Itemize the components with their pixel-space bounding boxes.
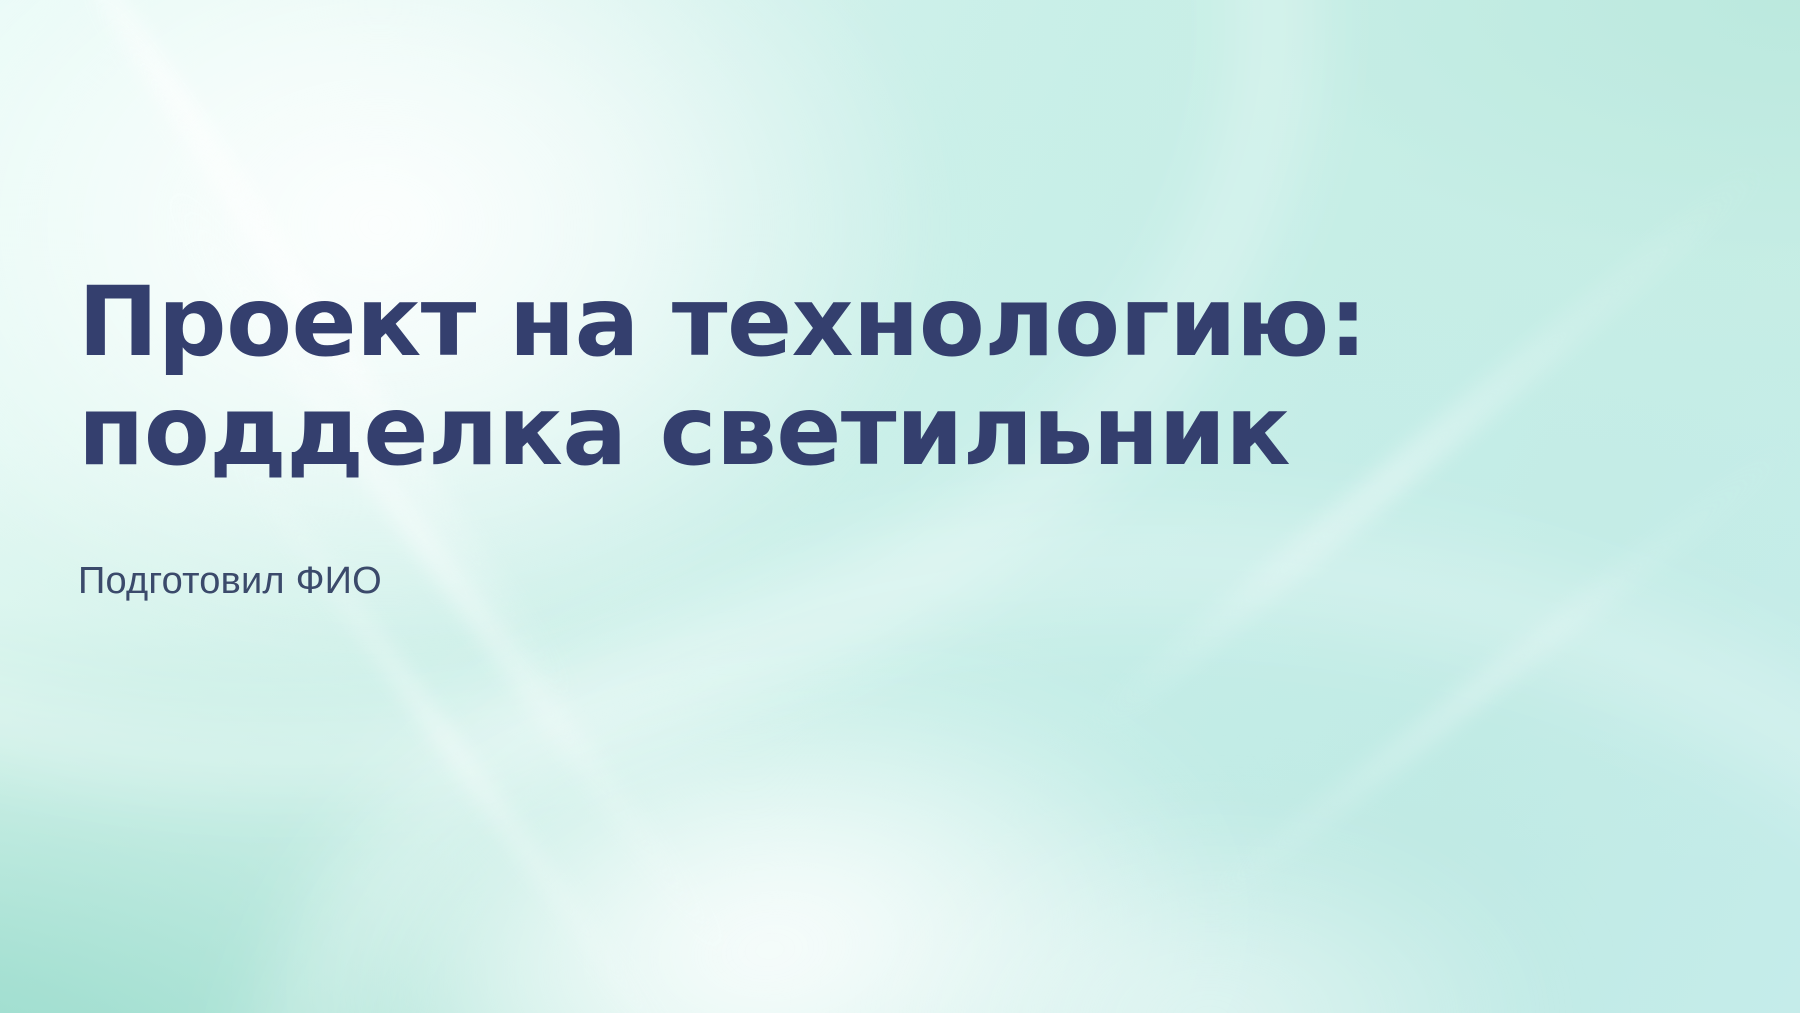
slide-title: Проект на технологию: подделка светильни… [78,268,1498,487]
text-block: Проект на технологию: подделка светильни… [78,268,1498,604]
title-slide: Проект на технологию: подделка светильни… [0,0,1800,1013]
glow-bottom-right [760,760,1660,1013]
slide-subtitle: Подготовил ФИО [78,487,1498,605]
